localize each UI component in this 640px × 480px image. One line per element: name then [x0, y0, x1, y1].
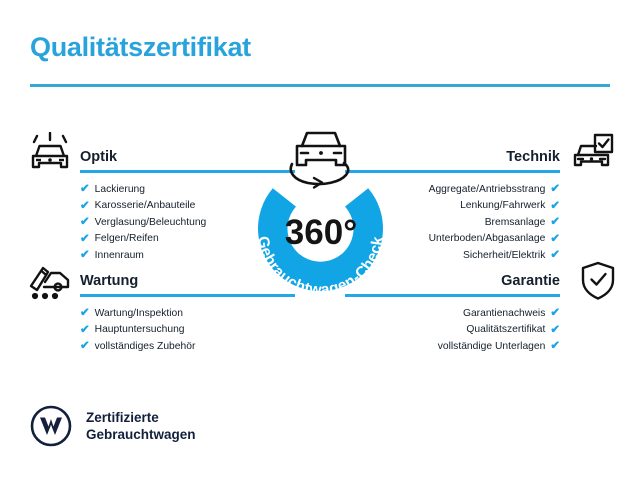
list-item: Qualitätszertifikat✔ — [345, 322, 560, 339]
list-item-label: vollständige Unterlagen — [438, 339, 546, 356]
check-icon: ✔ — [80, 325, 90, 337]
car-checkbox-icon — [570, 132, 616, 174]
shield-check-icon — [575, 260, 621, 302]
list-item-label: Sicherheit/Elektrik — [463, 248, 545, 265]
vw-wordmark-line1: Zertifizierte — [86, 409, 196, 426]
page-title: Qualitätszertifikat — [30, 32, 251, 63]
check-icon: ✔ — [550, 250, 560, 262]
list-item-label: Innenraum — [95, 248, 144, 265]
title-divider — [30, 84, 610, 87]
list-item-label: Karosserie/Anbauteile — [95, 198, 196, 215]
list-item-label: Lenkung/Fahrwerk — [460, 198, 545, 215]
list-item: vollständige Unterlagen✔ — [345, 339, 560, 356]
vw-wordmark-line2: Gebrauchtwagen — [86, 426, 196, 443]
list-item-label: Qualitätszertifikat — [466, 322, 545, 339]
vw-wordmark: Zertifizierte Gebrauchtwagen — [86, 409, 196, 443]
check-icon: ✔ — [80, 184, 90, 196]
car-rotate-icon — [291, 133, 348, 188]
list-item-label: vollständiges Zubehör — [95, 339, 196, 356]
check-icon: ✔ — [80, 201, 90, 213]
list-item-label: Unterboden/Abgasanlage — [429, 231, 546, 248]
check-icon: ✔ — [80, 234, 90, 246]
list-item-label: Wartung/Inspektion — [95, 306, 183, 323]
list-item-label: Aggregate/Antriebsstrang — [429, 182, 546, 199]
check-icon: ✔ — [550, 325, 560, 337]
check-icon: ✔ — [80, 341, 90, 353]
list-item-label: Felgen/Reifen — [95, 231, 159, 248]
list-item: ✔Hauptuntersuchung — [80, 322, 295, 339]
list-item-label: Lackierung — [95, 182, 145, 199]
list-item-label: Bremsanlage — [485, 215, 546, 232]
list-item-label: Hauptuntersuchung — [95, 322, 185, 339]
check-icon: ✔ — [550, 184, 560, 196]
vw-roundel-logo — [30, 405, 72, 447]
list-item-label: Garantienachweis — [463, 306, 545, 323]
wrench-car-icon — [27, 260, 73, 302]
check-icon: ✔ — [550, 201, 560, 213]
car-shine-icon — [27, 132, 73, 174]
check-icon: ✔ — [550, 217, 560, 229]
vw-certified-lockup: Zertifizierte Gebrauchtwagen — [30, 405, 196, 447]
check-icon: ✔ — [550, 234, 560, 246]
list-item-label: Verglasung/Beleuchtung — [95, 215, 207, 232]
list-item: ✔vollständiges Zubehör — [80, 339, 295, 356]
check-icon: ✔ — [80, 308, 90, 320]
badge-center-label: 360° — [285, 213, 357, 252]
check-icon: ✔ — [550, 308, 560, 320]
gebrauchtwagen-check-badge: Gebrauchtwagen-Check 360° — [228, 122, 413, 317]
check-icon: ✔ — [80, 217, 90, 229]
check-icon: ✔ — [80, 250, 90, 262]
check-icon: ✔ — [550, 341, 560, 353]
